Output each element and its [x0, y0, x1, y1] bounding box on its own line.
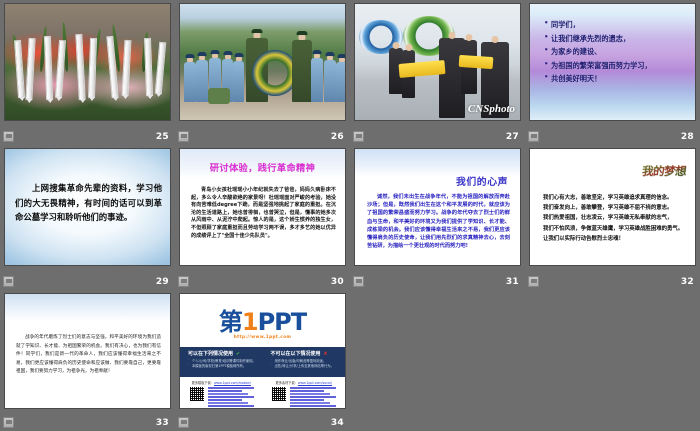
slide-32-wordart-title: 我的梦想	[641, 163, 687, 179]
slide-number: 33	[156, 418, 169, 428]
slide-25[interactable]	[4, 3, 171, 121]
slide-cell-30[interactable]: 研讨体验，践行革命精神 青岛小女孩杜瑶瑶小小年纪就失去了爸爸，妈妈久病卧床不起，…	[175, 145, 350, 290]
slide-cell-empty-1	[350, 290, 525, 431]
body-line: 我们热爱祖国，壮志凌云，学习英雄无私奉献的志气，	[543, 213, 684, 223]
body-line: 我们奋发向上，善敢攀登，学习英雄不屈不挠的意志。	[543, 203, 684, 213]
footer-link-item[interactable]: 更多素材下载：www.1ppt.com/sucai/	[263, 380, 346, 385]
slide-number: 34	[331, 418, 344, 428]
slide-thumbnail-icon	[3, 417, 14, 428]
slide-29[interactable]: 上网搜集革命先辈的资料，学习他们的大无畏精神，有时间的话可以到革命公墓学习和聆听…	[4, 148, 171, 266]
body-line: 我们心有大志，善敢坚定，学习英雄追求真理的信念。	[543, 193, 684, 203]
slide-thumbnail-icon	[353, 276, 364, 287]
slide-number: 27	[506, 132, 519, 142]
slide-31-footer: 31	[350, 268, 525, 290]
slide-30-body: 青岛小女孩杜瑶瑶小小年纪就失去了爸爸，妈妈久病卧床不起，多么令人辛酸欲绝的家景呀…	[191, 187, 336, 240]
footer-link-item[interactable]: 更多模板下载：www.1ppt.com/moban/	[180, 380, 263, 385]
allowed-line: 本模板的版权归第1PPT模板网所有。	[188, 364, 257, 369]
qr-code-area	[180, 386, 345, 407]
logo-number: 1	[242, 308, 258, 336]
slide-33-body: 战争的年代磨炼了烈士们的意志与坚强，和平美好的环境为我们造就了学知识、长才能、为…	[16, 334, 161, 377]
slide-30[interactable]: 研讨体验，践行革命精神 青岛小女孩杜瑶瑶小小年纪就失去了爸爸，妈妈久病卧床不起，…	[179, 148, 346, 266]
check-icon: ✔	[236, 351, 240, 357]
slide-31-body: 诚然，我们未出生在战争年代，不能为祖国的解放而奔赴沙场；但是，既然我们出生在这个…	[367, 193, 510, 250]
slide-26[interactable]	[179, 3, 346, 121]
slide-thumbnail-icon	[528, 276, 539, 287]
slide-cell-27[interactable]: CNSphoto 27	[350, 0, 525, 145]
slide-thumbnail-icon	[3, 276, 14, 287]
forbidden-line: 出售/转让/分享/上传至其他网站等行为。	[271, 364, 340, 369]
qr-block-right	[271, 386, 336, 407]
cross-icon: ✘	[324, 351, 328, 357]
slide-27[interactable]: CNSphoto	[354, 3, 521, 121]
first-ppt-logo: 第1PPT http://www.1ppt.com	[180, 310, 345, 339]
qr-link-lines	[290, 386, 336, 407]
slide-thumbnail-icon	[178, 131, 189, 142]
slide-number: 31	[506, 277, 519, 287]
footer-link-label: 更多模板下载：	[192, 381, 214, 385]
slide-26-footer: 26	[175, 123, 350, 145]
bullet-item: 为祖国的繁荣富强而努力学习，	[544, 59, 695, 73]
slide-34-footer: 34	[175, 410, 350, 431]
slide-28[interactable]: 同学们， 让我们继承先烈的遗志， 为家乡的建设、 为祖国的繁荣富强而努力学习， …	[529, 3, 696, 121]
slide-number: 26	[331, 132, 344, 142]
slide-number: 28	[681, 132, 694, 142]
slide-25-photo	[5, 4, 170, 120]
slide-cell-28[interactable]: 同学们， 让我们继承先烈的遗志， 为家乡的建设、 为祖国的繁荣富强而努力学习， …	[525, 0, 700, 145]
slide-32[interactable]: 我的梦想 我们心有大志，善敢坚定，学习英雄追求真理的信念。 我们奋发向上，善敢攀…	[529, 148, 696, 266]
qr-block-left	[189, 386, 254, 407]
photo-watermark: CNSphoto	[468, 103, 515, 115]
footer-link-url[interactable]: www.1ppt.com/moban/	[214, 381, 251, 385]
slide-cell-26[interactable]: 26	[175, 0, 350, 145]
slide-30-title: 研讨体验，践行革命精神	[180, 160, 345, 174]
footer-links: 更多模板下载：www.1ppt.com/moban/ 更多素材下载：www.1p…	[180, 380, 345, 385]
bullet-item: 共创美好明天！	[544, 72, 695, 86]
bullet-item: 同学们，	[544, 18, 695, 32]
slide-number: 29	[156, 277, 169, 287]
slide-33-footer: 33	[0, 410, 175, 431]
slide-cell-empty-2	[525, 290, 700, 431]
qr-code-icon	[189, 386, 205, 402]
allowed-heading: 可以在下列情况使用✔	[188, 350, 257, 357]
allowed-usage-column: 可以在下列情况使用✔ 个人/公司/学校/教育/培训等课件制作使用。 本模板的版权…	[180, 347, 263, 377]
footer-link-url[interactable]: www.1ppt.com/sucai/	[298, 381, 332, 385]
forbidden-heading: 不可以在以下情况使用✘	[271, 350, 340, 357]
slide-28-bullet-list: 同学们， 让我们继承先烈的遗志， 为家乡的建设、 为祖国的繁荣富强而努力学习， …	[544, 18, 695, 86]
slide-27-photo: CNSphoto	[355, 4, 520, 120]
slide-number: 32	[681, 277, 694, 287]
slide-27-footer: 27	[350, 123, 525, 145]
logo-prefix: 第	[219, 308, 242, 336]
slide-cell-34[interactable]: 第1PPT http://www.1ppt.com 可以在下列情况使用✔ 个人/…	[175, 290, 350, 431]
bullet-item: 让我们继承先烈的遗志，	[544, 32, 695, 46]
slide-25-footer: 25	[0, 123, 175, 145]
slide-29-body: 上网搜集革命先辈的资料，学习他们的大无畏精神，有时间的话可以到革命公墓学习和聆听…	[15, 181, 162, 225]
slide-cell-31[interactable]: 我们的心声 诚然，我们未出生在战争年代，不能为祖国的解放而奔赴沙场；但是，既然我…	[350, 145, 525, 290]
usage-terms-band: 可以在下列情况使用✔ 个人/公司/学校/教育/培训等课件制作使用。 本模板的版权…	[180, 347, 345, 377]
slide-thumbnail-icon	[178, 276, 189, 287]
slide-cell-25[interactable]: 25	[0, 0, 175, 145]
slide-thumbnail-grid: 25 26	[0, 0, 700, 431]
slide-34[interactable]: 第1PPT http://www.1ppt.com 可以在下列情况使用✔ 个人/…	[179, 293, 346, 409]
slide-31-title: 我们的心声	[456, 174, 508, 188]
slide-32-body: 我们心有大志，善敢坚定，学习英雄追求真理的信念。 我们奋发向上，善敢攀登，学习英…	[543, 193, 684, 244]
slide-28-footer: 28	[525, 123, 700, 145]
logo-suffix: PPT	[258, 308, 307, 336]
slide-number: 25	[156, 132, 169, 142]
qr-link-lines	[208, 386, 254, 407]
slide-33[interactable]: 战争的年代磨炼了烈士们的意志与坚强，和平美好的环境为我们造就了学知识、长才能、为…	[4, 293, 171, 409]
slide-number: 30	[331, 277, 344, 287]
slide-cell-32[interactable]: 我的梦想 我们心有大志，善敢坚定，学习英雄追求真理的信念。 我们奋发向上，善敢攀…	[525, 145, 700, 290]
slide-thumbnail-icon	[178, 417, 189, 428]
slide-32-footer: 32	[525, 268, 700, 290]
footer-link-label: 更多素材下载：	[276, 381, 298, 385]
logo-site-url: http://www.1ppt.com	[180, 335, 345, 339]
slide-30-footer: 30	[175, 268, 350, 290]
slide-cell-33[interactable]: 战争的年代磨炼了烈士们的意志与坚强，和平美好的环境为我们造就了学知识、长才能、为…	[0, 290, 175, 431]
slide-29-footer: 29	[0, 268, 175, 290]
slide-31[interactable]: 我们的心声 诚然，我们未出生在战争年代，不能为祖国的解放而奔赴沙场；但是，既然我…	[354, 148, 521, 266]
slide-thumbnail-icon	[528, 131, 539, 142]
qr-code-icon	[271, 386, 287, 402]
forbidden-usage-column: 不可以在以下情况使用✘ 用作商业/出版/印刷品等盈利用途。 出售/转让/分享/上…	[263, 347, 346, 377]
body-line: 让我们以实际行动告慰烈士忠魂！	[543, 234, 684, 244]
slide-thumbnail-icon	[3, 131, 14, 142]
slide-26-photo	[180, 4, 345, 120]
body-line: 我们不怕风浪，争做蓝天雄鹰，学习英雄战胜困难的勇气。	[543, 224, 684, 234]
slide-cell-29[interactable]: 上网搜集革命先辈的资料，学习他们的大无畏精神，有时间的话可以到革命公墓学习和聆听…	[0, 145, 175, 290]
slide-thumbnail-icon	[353, 131, 364, 142]
bullet-item: 为家乡的建设、	[544, 45, 695, 59]
